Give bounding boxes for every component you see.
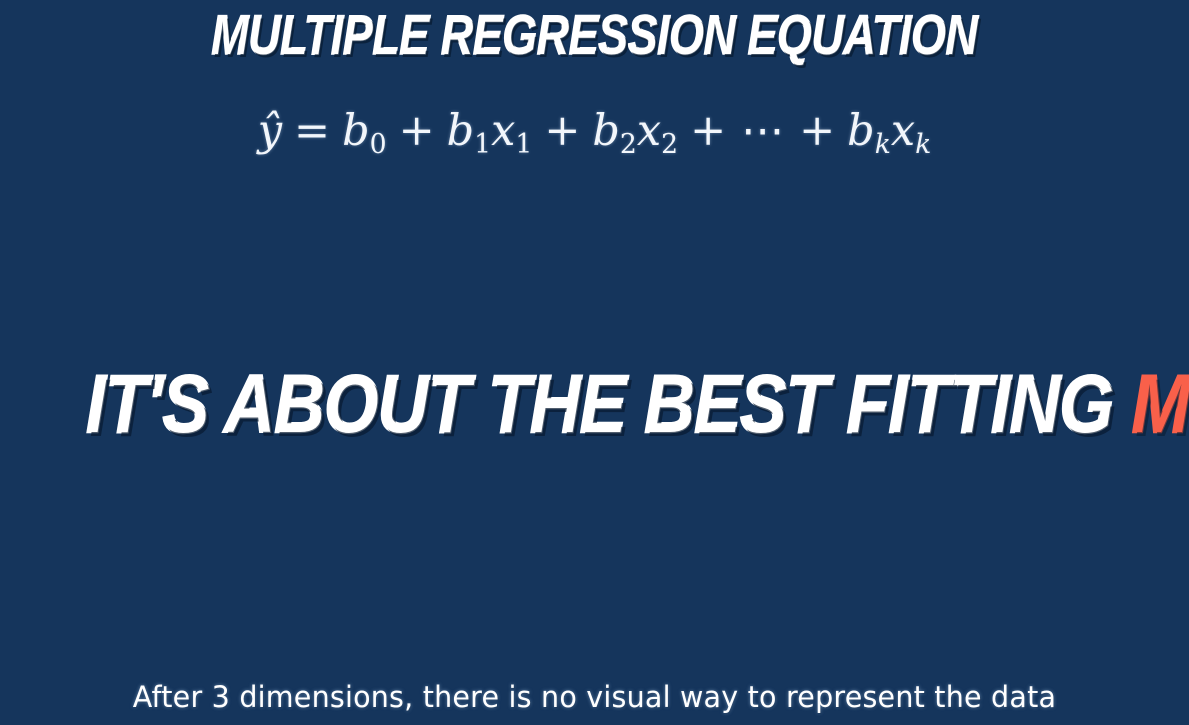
equation-plus-4: +: [796, 106, 838, 156]
equation-plus-2: +: [541, 106, 583, 156]
regression-equation: ŷ=b0+b1x1+b2x2+⋯+bkxk: [0, 100, 1189, 176]
headline-accent-model: MODEL: [1132, 359, 1189, 450]
headline-lead: IT'S ABOUT THE BEST FITTING: [86, 359, 1113, 450]
headline: IT'S ABOUT THE BEST FITTING MODEL: [86, 358, 1103, 452]
footer-caption: After 3 dimensions, there is no visual w…: [9, 677, 1180, 717]
equation-equals: =: [291, 106, 333, 156]
equation-plus-3: +: [687, 106, 729, 156]
equation-term-1: b1x1: [447, 106, 533, 156]
page-title: MULTIPLE REGRESSION EQUATION: [119, 4, 1070, 66]
equation-lhs: ŷ: [258, 100, 282, 162]
equation-term-2: b2x2: [592, 106, 678, 156]
slide-canvas: MULTIPLE REGRESSION EQUATION ŷ=b0+b1x1+b…: [0, 0, 1189, 725]
equation-plus-1: +: [396, 106, 438, 156]
equation-ellipsis: ⋯: [738, 106, 787, 156]
equation-term-0: b0: [342, 106, 387, 156]
equation-term-k: bkxk: [847, 106, 931, 156]
